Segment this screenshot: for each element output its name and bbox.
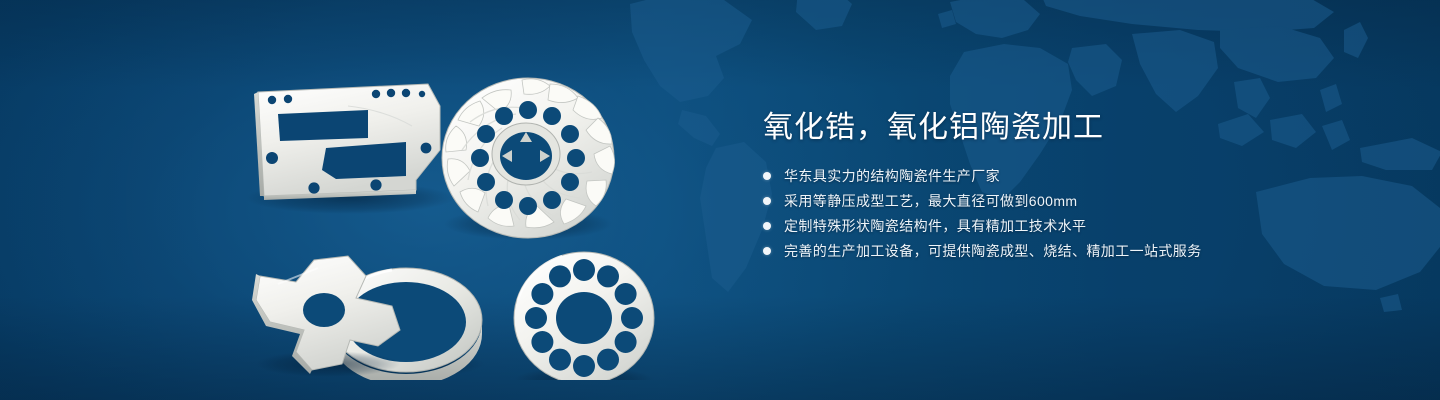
map-tasmania [1380, 294, 1402, 312]
map-europe [950, 0, 1040, 38]
map-japan [1344, 22, 1368, 58]
map-arabia [1068, 44, 1122, 96]
feature-item-3: 定制特殊形状陶瓷结构件，具有精加工技术水平 [763, 214, 1383, 237]
ceramic-vaned-impeller [442, 78, 615, 240]
map-greenland [796, 0, 852, 30]
bullet-dot-icon [763, 247, 771, 255]
feature-text-4: 完善的生产加工设备，可提供陶瓷成型、烧结、精加工一站式服务 [784, 241, 1202, 261]
feature-text-2: 采用等静压成型工艺，最大直径可做到600mm [784, 191, 1077, 211]
hero-banner: 氧化锆，氧化铝陶瓷加工 华东具实力的结构陶瓷件生产厂家 采用等静压成型工艺，最大… [0, 0, 1440, 400]
feature-item-4: 完善的生产加工设备，可提供陶瓷成型、烧结、精加工一站式服务 [763, 239, 1383, 262]
feature-item-1: 华东具实力的结构陶瓷件生产厂家 [763, 164, 1383, 187]
bullet-dot-icon [763, 172, 771, 180]
map-south-asia [1132, 30, 1218, 112]
feature-item-2: 采用等静压成型工艺，最大直径可做到600mm [763, 189, 1383, 212]
banner-copy: 氧化锆，氧化铝陶瓷加工 华东具实力的结构陶瓷件生产厂家 采用等静压成型工艺，最大… [763, 108, 1383, 264]
feature-list: 华东具实力的结构陶瓷件生产厂家 采用等静压成型工艺，最大直径可做到600mm 定… [763, 164, 1383, 262]
ceramic-machined-plate [246, 84, 454, 214]
feature-text-1: 华东具实力的结构陶瓷件生产厂家 [784, 166, 1000, 186]
feature-text-3: 定制特殊形状陶瓷结构件，具有精加工技术水平 [784, 216, 1086, 236]
bullet-dot-icon [763, 222, 771, 230]
map-east-asia [1220, 26, 1334, 82]
product-image-group [230, 30, 730, 380]
bullet-dot-icon [763, 197, 771, 205]
ceramic-perforated-disc [514, 252, 654, 380]
map-north-asia [1040, 0, 1334, 32]
banner-headline: 氧化锆，氧化铝陶瓷加工 [763, 108, 1383, 148]
